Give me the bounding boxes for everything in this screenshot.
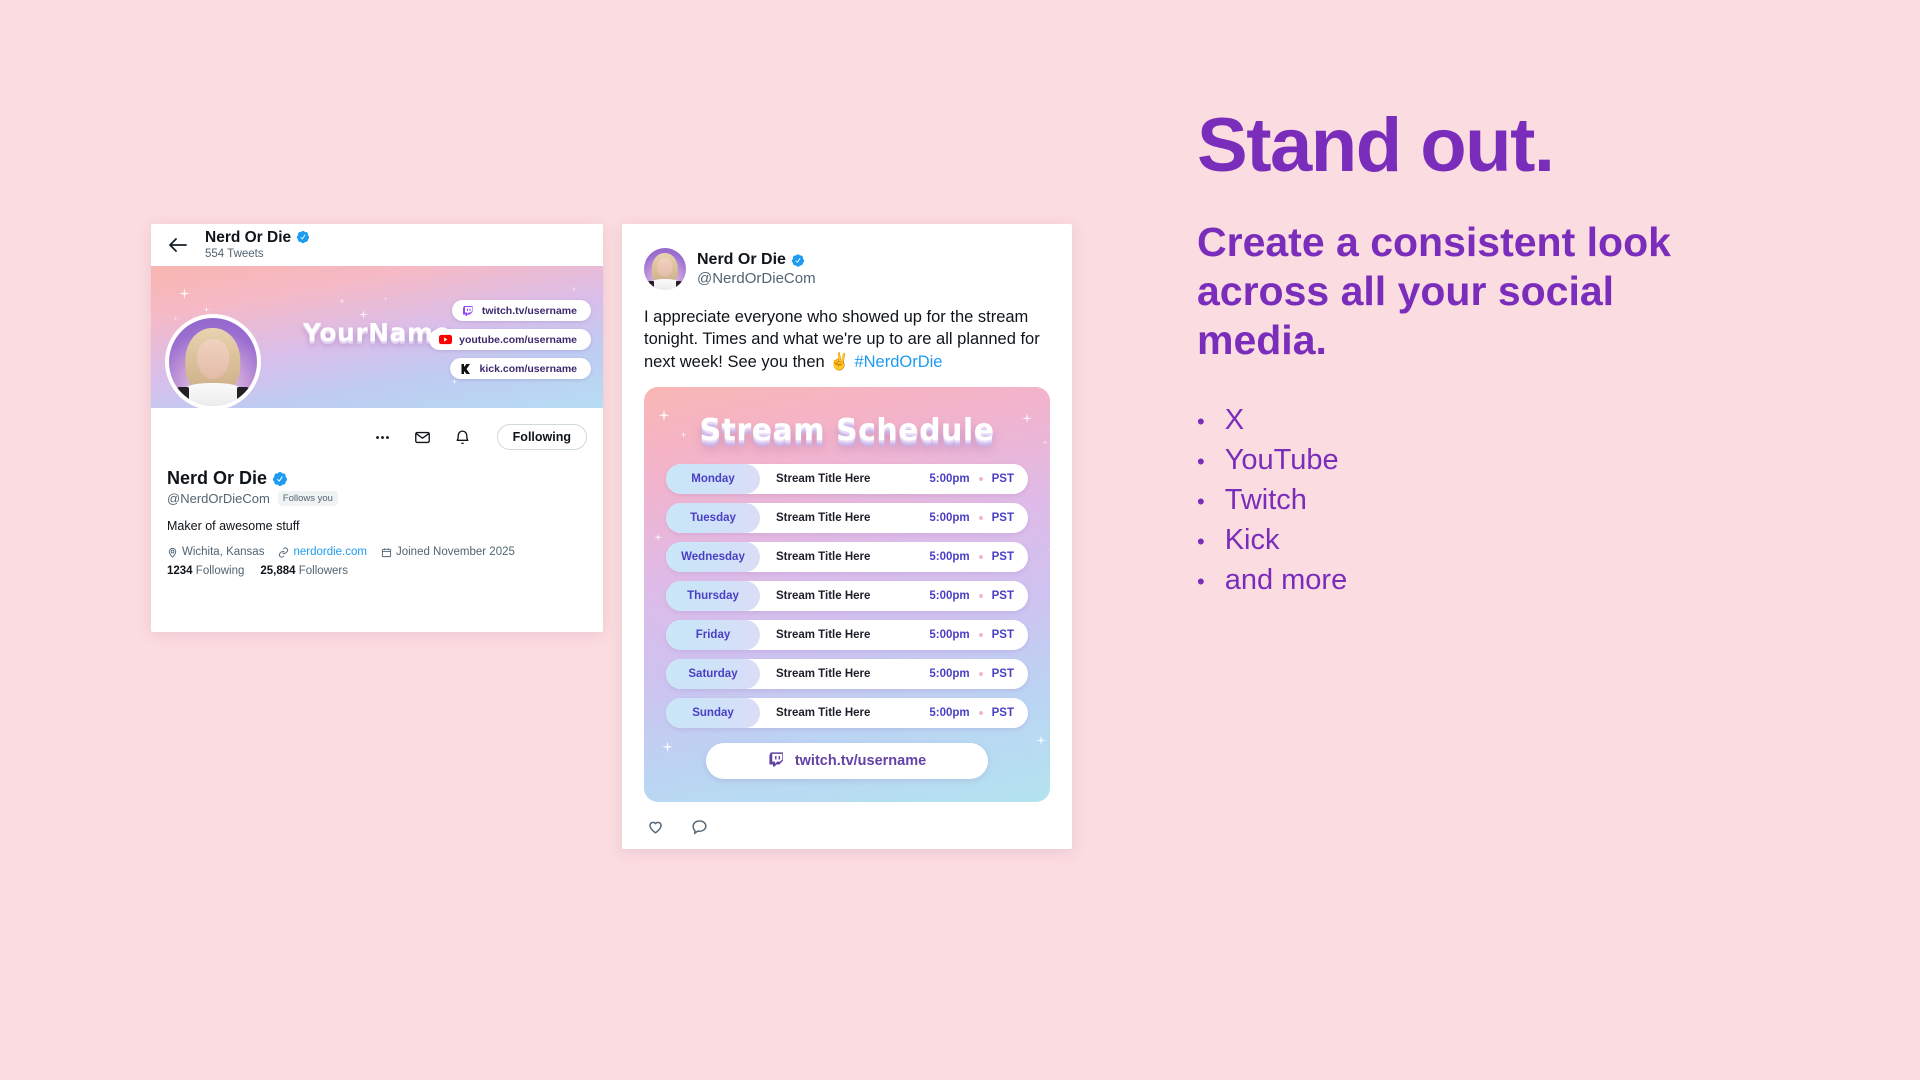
topbar-name-label: Nerd Or Die [205, 229, 291, 246]
comment-icon[interactable] [690, 817, 710, 837]
list-item: • Twitch [1197, 480, 1837, 520]
list-item-label: Kick [1225, 520, 1280, 560]
schedule-timezone: PST [992, 629, 1014, 641]
schedule-row: Tuesday Stream Title Here 5:00pm PST [666, 503, 1028, 533]
bullet-icon: • [1197, 491, 1205, 513]
following-stat-label: Following [196, 565, 245, 577]
avatar-sleeve-left [647, 281, 654, 290]
tweet-hashtag[interactable]: #NerdOrDie [854, 353, 942, 371]
list-item: • and more [1197, 560, 1837, 600]
schedule-time: 5:00pm [929, 590, 969, 602]
verified-badge-icon [272, 471, 288, 487]
schedule-day-pill: Wednesday [666, 542, 760, 572]
schedule-separator-dot [979, 633, 983, 637]
tweet-author-handle: @NerdOrDieCom [697, 270, 816, 288]
schedule-timezone: PST [992, 668, 1014, 680]
banner-link-kick[interactable]: kick.com/username [450, 358, 591, 379]
heart-icon[interactable] [646, 817, 666, 837]
sparkle-icon [451, 378, 458, 385]
schedule-time: 5:00pm [929, 707, 969, 719]
sparkle-icon [179, 288, 190, 299]
profile-handle: @NerdOrDieCom [167, 491, 270, 506]
profile-website[interactable]: nerdordie.com [278, 546, 367, 558]
avatar-image [169, 318, 257, 406]
bell-icon[interactable] [453, 427, 473, 447]
schedule-time: 5:00pm [929, 551, 969, 563]
sparkle-icon [1048, 545, 1050, 554]
tweet-author-name-label: Nerd Or Die [697, 250, 786, 269]
schedule-time: 5:00pm [929, 473, 969, 485]
schedule-cta-label: twitch.tv/username [795, 753, 926, 769]
avatar[interactable] [644, 248, 686, 290]
sparkle-icon [571, 286, 577, 292]
tweet-count-label: 554 Tweets [205, 247, 310, 262]
schedule-day-pill: Tuesday [666, 503, 760, 533]
schedule-time: 5:00pm [929, 668, 969, 680]
schedule-rows: Monday Stream Title Here 5:00pm PST Tues… [666, 464, 1028, 728]
banner-link-twitch[interactable]: twitch.tv/username [452, 300, 591, 321]
banner-link-kick-label: kick.com/username [480, 363, 577, 375]
list-item-label: YouTube [1225, 440, 1339, 480]
schedule-day-pill: Thursday [666, 581, 760, 611]
marketing-panel: Stand out. Create a consistent look acro… [1197, 108, 1837, 600]
profile-joined: Joined November 2025 [381, 546, 515, 558]
schedule-twitch-cta[interactable]: twitch.tv/username [706, 743, 988, 779]
marketing-bullet-list: • X • YouTube • Twitch • Kick • and more [1197, 400, 1837, 600]
list-item: • YouTube [1197, 440, 1837, 480]
followers-count: 25,884 [260, 565, 295, 577]
profile-location: Wichita, Kansas [167, 546, 264, 558]
schedule-title: Stream Schedule [666, 413, 1028, 448]
schedule-separator-dot [979, 555, 983, 559]
tweet-actions [644, 817, 1050, 837]
bullet-icon: • [1197, 531, 1205, 553]
topbar-text-group: Nerd Or Die 554 Tweets [205, 229, 310, 262]
schedule-stream-title: Stream Title Here [776, 512, 929, 524]
schedule-timezone: PST [992, 707, 1014, 719]
twitch-icon [768, 751, 785, 772]
avatar-sleeve-right [676, 281, 683, 290]
followers-stat-label: Followers [299, 565, 348, 577]
youtube-icon [439, 333, 452, 346]
banner-link-youtube-label: youtube.com/username [459, 334, 577, 346]
schedule-day-pill: Monday [666, 464, 760, 494]
sparkle-icon [173, 316, 178, 321]
list-item: • X [1197, 400, 1837, 440]
topbar-account-name: Nerd Or Die [205, 229, 310, 246]
schedule-row: Thursday Stream Title Here 5:00pm PST [666, 581, 1028, 611]
profile-website-link[interactable]: nerdordie.com [293, 546, 367, 558]
kick-icon [460, 362, 473, 375]
profile-location-label: Wichita, Kansas [182, 546, 264, 558]
schedule-row: Friday Stream Title Here 5:00pm PST [666, 620, 1028, 650]
sparkle-icon [1036, 735, 1046, 745]
sparkle-icon [203, 306, 210, 313]
banner-link-badges: twitch.tv/username youtube.com/username … [429, 300, 591, 379]
sparkle-icon [1042, 439, 1048, 445]
link-icon [278, 547, 289, 558]
profile-bio: Maker of awesome stuff [167, 519, 587, 533]
following-stat[interactable]: 1234 Following [167, 565, 244, 577]
tweet-author: Nerd Or Die @NerdOrDieCom [697, 250, 816, 288]
verified-badge-icon [791, 253, 805, 267]
schedule-timezone: PST [992, 590, 1014, 602]
avatar-sleeve-left [174, 387, 189, 406]
schedule-day-pill: Friday [666, 620, 760, 650]
profile-info: Nerd Or Die @NerdOrDieCom Follows you Ma… [151, 466, 603, 577]
avatar-face [197, 339, 229, 379]
sparkle-icon [383, 296, 388, 301]
schedule-row: Wednesday Stream Title Here 5:00pm PST [666, 542, 1028, 572]
list-item: • Kick [1197, 520, 1837, 560]
tweet-body: I appreciate everyone who showed up for … [644, 306, 1050, 373]
twitch-icon [462, 304, 475, 317]
envelope-icon[interactable] [413, 427, 433, 447]
bullet-icon: • [1197, 411, 1205, 433]
banner-link-youtube[interactable]: youtube.com/username [429, 329, 591, 350]
followers-stat[interactable]: 25,884 Followers [260, 565, 348, 577]
sparkle-icon [662, 741, 673, 752]
schedule-stream-title: Stream Title Here [776, 629, 929, 641]
schedule-day-pill: Sunday [666, 698, 760, 728]
more-dots-icon[interactable] [373, 427, 393, 447]
sparkle-icon [339, 298, 345, 304]
profile-joined-label: Joined November 2025 [396, 546, 515, 558]
twitter-profile-card: Nerd Or Die 554 Tweets YourName twitch.t… [151, 224, 603, 632]
schedule-stream-title: Stream Title Here [776, 707, 929, 719]
profile-action-row: Following [151, 408, 603, 466]
stream-schedule-graphic: Stream Schedule Monday Stream Title Here… [644, 387, 1050, 802]
location-pin-icon [167, 547, 178, 558]
calendar-icon [381, 547, 392, 558]
profile-handle-row: @NerdOrDieCom Follows you [167, 491, 587, 506]
schedule-stream-title: Stream Title Here [776, 551, 929, 563]
list-item-label: and more [1225, 560, 1348, 600]
list-item-label: X [1225, 400, 1244, 440]
schedule-timezone: PST [992, 473, 1014, 485]
following-count: 1234 [167, 565, 193, 577]
follows-you-badge: Follows you [278, 491, 338, 506]
schedule-time: 5:00pm [929, 629, 969, 641]
bullet-icon: • [1197, 451, 1205, 473]
profile-meta: Wichita, Kansas nerdordie.com Joined Nov… [167, 546, 587, 558]
banner-link-twitch-label: twitch.tv/username [482, 305, 577, 317]
following-button[interactable]: Following [497, 424, 587, 450]
profile-stats: 1234 Following 25,884 Followers [167, 565, 587, 577]
avatar-sleeve-right [237, 387, 252, 406]
tweet-author-name: Nerd Or Die [697, 250, 816, 269]
schedule-separator-dot [979, 594, 983, 598]
peace-hand-emoji: ✌️ [829, 353, 850, 371]
profile-topbar: Nerd Or Die 554 Tweets [151, 224, 603, 266]
profile-name: Nerd Or Die [167, 468, 587, 489]
tweet-header: Nerd Or Die @NerdOrDieCom [644, 248, 1050, 290]
avatar[interactable] [165, 314, 261, 410]
schedule-stream-title: Stream Title Here [776, 473, 929, 485]
avatar-body [180, 383, 245, 406]
tweet-card: Nerd Or Die @NerdOrDieCom I appreciate e… [622, 224, 1072, 849]
schedule-separator-dot [979, 672, 983, 676]
marketing-headline: Stand out. [1197, 108, 1837, 184]
sparkle-icon [654, 533, 662, 541]
schedule-stream-title: Stream Title Here [776, 668, 929, 680]
back-arrow-icon[interactable] [165, 232, 191, 258]
schedule-stream-title: Stream Title Here [776, 590, 929, 602]
verified-badge-icon [296, 230, 310, 244]
bullet-icon: • [1197, 571, 1205, 593]
schedule-row: Sunday Stream Title Here 5:00pm PST [666, 698, 1028, 728]
schedule-timezone: PST [992, 551, 1014, 563]
schedule-separator-dot [979, 711, 983, 715]
avatar-face [657, 258, 672, 277]
schedule-separator-dot [979, 477, 983, 481]
schedule-day-pill: Saturday [666, 659, 760, 689]
schedule-row: Saturday Stream Title Here 5:00pm PST [666, 659, 1028, 689]
schedule-time: 5:00pm [929, 512, 969, 524]
schedule-timezone: PST [992, 512, 1014, 524]
schedule-separator-dot [979, 516, 983, 520]
list-item-label: Twitch [1225, 480, 1307, 520]
marketing-subheadline: Create a consistent look across all your… [1197, 218, 1727, 364]
schedule-row: Monday Stream Title Here 5:00pm PST [666, 464, 1028, 494]
profile-name-label: Nerd Or Die [167, 468, 267, 489]
